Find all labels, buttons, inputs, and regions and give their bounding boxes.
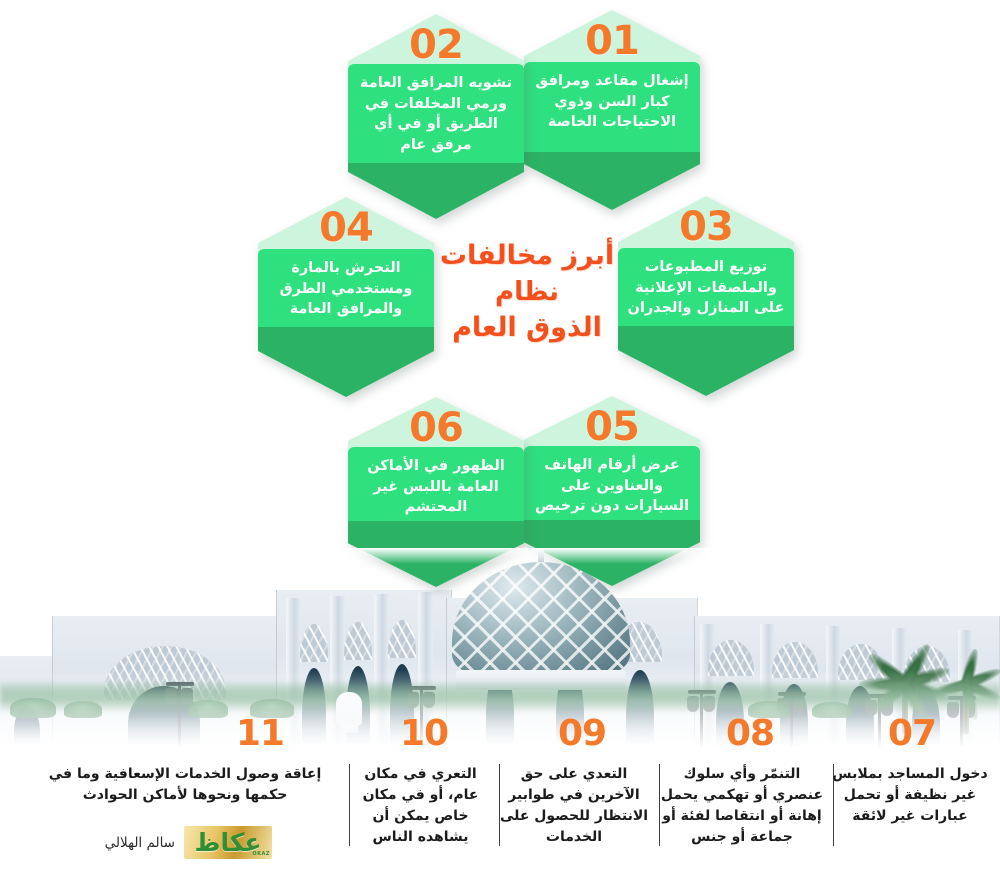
hex-body: 04 التحرش بالمارة ومستخدمي الطرق والمراف… xyxy=(258,197,434,397)
item-text: دخول المساجد بملابس غير نظيفة أو تحمل عب… xyxy=(830,764,990,827)
card-number: 03 xyxy=(679,196,733,247)
palm-frond xyxy=(964,679,1000,704)
dome-cap xyxy=(452,562,630,674)
hex-base xyxy=(258,327,434,397)
item-separator xyxy=(833,764,834,846)
credit-block: عكاظ OKAZ سالم الهلالي xyxy=(105,826,272,859)
item-number: 07 xyxy=(872,716,952,752)
item-text: إعاقة وصول الخدمات الإسعافية وما في حكمه… xyxy=(30,764,340,806)
card-text-panel: تشويه المرافق العامة ورمي المخلفات في ال… xyxy=(348,64,524,176)
title-line-1: أبرز مخالفات xyxy=(412,238,642,275)
card-number: 05 xyxy=(585,396,639,447)
card-number: 04 xyxy=(319,197,373,248)
infographic-stage: 01 إشغال مقاعد ومرافق كبار السن وذوي الا… xyxy=(0,0,1000,871)
okaz-logo-tag: OKAZ xyxy=(252,851,270,857)
palm-frond xyxy=(859,677,905,692)
author-byline: سالم الهلالي xyxy=(105,835,175,851)
okaz-logo[interactable]: عكاظ OKAZ xyxy=(184,826,272,859)
palm-frond xyxy=(903,677,951,705)
card-number: 02 xyxy=(409,14,463,65)
title-line-2: نظام xyxy=(412,275,642,310)
item-text: التنمّر وأي سلوك عنصري أو تهكمي يحمل إها… xyxy=(656,764,828,848)
item-text: التعري في مكان عام، أو في مكان خاص يمكن … xyxy=(353,764,488,848)
item-separator xyxy=(349,764,350,846)
violation-card-03[interactable]: 03 توزيع المطبوعات والملصقات الإعلانية ع… xyxy=(618,196,794,396)
title-line-3: الذوق العام xyxy=(412,310,642,347)
dome-finial xyxy=(538,548,544,566)
item-separator xyxy=(499,764,500,846)
palm-frond xyxy=(929,679,968,700)
violation-card-04[interactable]: 04 التحرش بالمارة ومستخدمي الطرق والمراف… xyxy=(258,197,434,397)
item-number: 09 xyxy=(542,716,622,752)
hex-base xyxy=(618,326,794,396)
palm-frond xyxy=(865,649,910,690)
item-separator xyxy=(659,764,660,846)
item-number: 10 xyxy=(384,716,464,752)
page-title: أبرز مخالفات نظام الذوق العام xyxy=(412,238,642,347)
hex-body: 01 إشغال مقاعد ومرافق كبار السن وذوي الا… xyxy=(524,10,700,210)
mosque-dome xyxy=(452,562,630,674)
dome-drum xyxy=(456,670,626,690)
violation-card-02[interactable]: 02 تشويه المرافق العامة ورمي المخلفات في… xyxy=(348,14,524,219)
card-number: 01 xyxy=(585,10,639,61)
hex-body: 03 توزيع المطبوعات والملصقات الإعلانية ع… xyxy=(618,196,794,396)
card-number: 06 xyxy=(409,397,463,448)
item-text: التعدي على حق الآخرين في طوابير الانتظار… xyxy=(498,764,650,848)
item-number: 08 xyxy=(710,716,790,752)
hex-body: 02 تشويه المرافق العامة ورمي المخلفات في… xyxy=(348,14,524,219)
ground-green-strip xyxy=(0,680,1000,714)
shrub xyxy=(10,698,56,718)
item-number: 11 xyxy=(220,716,300,752)
violation-card-01[interactable]: 01 إشغال مقاعد ومرافق كبار السن وذوي الا… xyxy=(524,10,700,210)
